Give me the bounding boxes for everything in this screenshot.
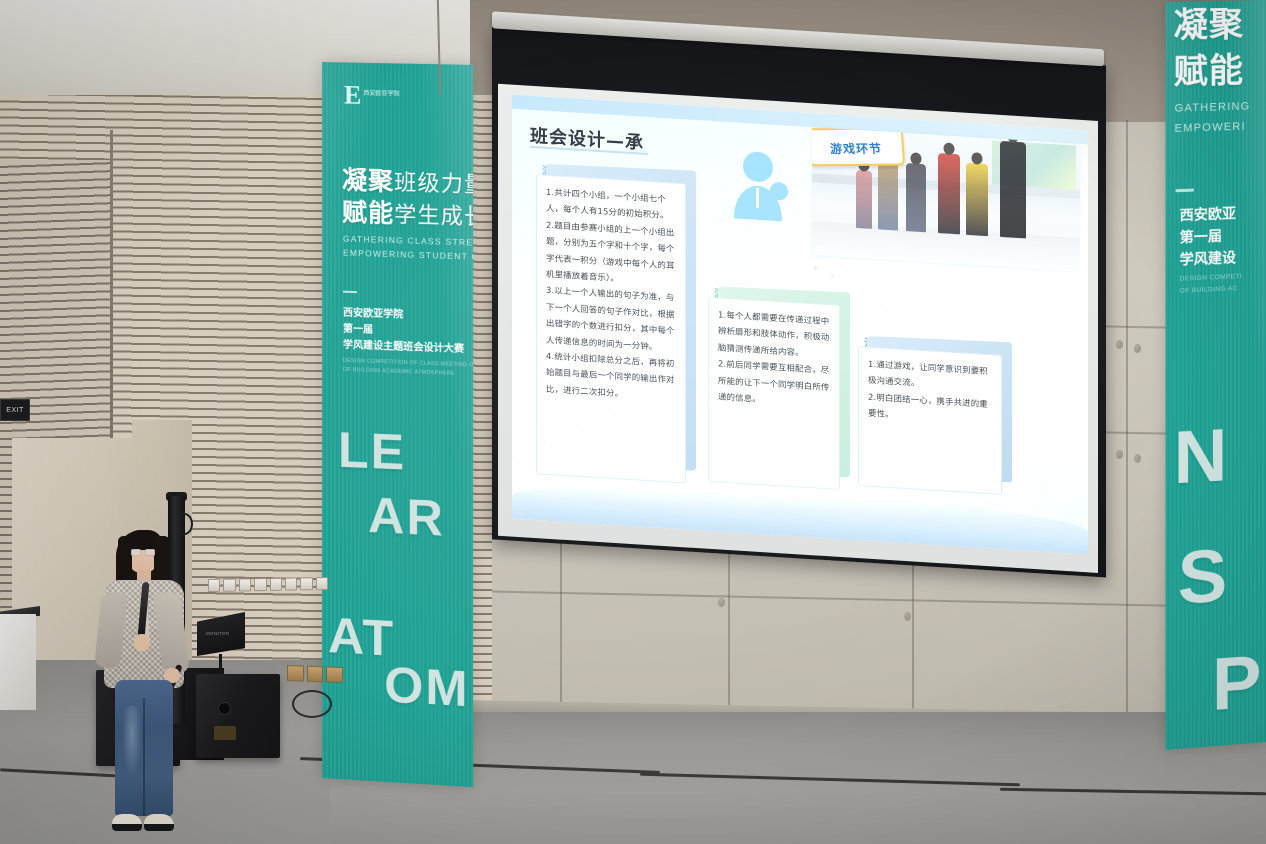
photo-badge: 游戏环节: [812, 127, 904, 175]
card-game-points: 1.每个人都需要在传递过程中辨析唇形和肢体动作，积极动脑猜测传递所给内容。 2.…: [708, 297, 840, 490]
banner-big-letter: AR: [368, 486, 445, 548]
banner-right-sub-2: 第一届: [1180, 226, 1222, 251]
banner-divider-dash: [343, 291, 357, 293]
card-text-item: 1.每个人都需要在传递过程中辨析唇形和肢体动作，积极动脑猜测传递所给内容。: [718, 306, 830, 362]
wall-socket-strip: [208, 577, 328, 592]
banner-right-english-2: EMPOWERI: [1175, 117, 1246, 140]
lectern: [0, 614, 36, 710]
card-body: 1.共计四个小组，一个小组七个人，每个人有15分的初始积分。 2.题目由参赛小组…: [536, 174, 686, 483]
card-game-rules: 1.共计四个小组，一个小组七个人，每个人有15分的初始积分。 2.题目由参赛小组…: [536, 174, 686, 483]
wall-socket-strip-lower: [287, 665, 343, 683]
presenter-glasses: [131, 549, 155, 556]
banner-right: 凝聚 赋能 GATHERING EMPOWERI 西安欧亚 第一届 学风建设 D…: [1165, 0, 1266, 750]
banner-headline-2: 赋能学生成长: [342, 193, 473, 233]
speaker-logo: [214, 726, 236, 740]
banner-right-headline-2: 赋能: [1174, 43, 1244, 94]
banner-right-headline-1: 凝聚: [1174, 0, 1244, 47]
slide-photo: 游戏环节: [812, 127, 1080, 272]
photo-badge-text: 游戏环节: [829, 139, 882, 156]
banner-right-divider-dash: [1176, 189, 1194, 193]
card-text-item: 3.以上一个人输出的句子为准，与下一个人回答的句子作对比，根据出错字的个数进行扣…: [546, 282, 676, 356]
banner-right-big-letter: P: [1212, 638, 1263, 727]
banner-logo: E 西安欧亚学院: [344, 84, 400, 107]
banner-right-sub-1: 西安欧亚: [1180, 203, 1236, 228]
sparkle-icon: ✦: [812, 263, 820, 274]
banner-left: E 西安欧亚学院 凝聚班级力量 赋能学生成长 GATHERING CLASS S…: [322, 62, 473, 787]
banner-english-2: EMPOWERING STUDENT GROWTH: [343, 245, 473, 267]
card-body: 1.每个人都需要在传递过程中辨析唇形和肢体动作，积极动脑猜测传递所给内容。 2.…: [708, 297, 840, 490]
main-speaker: [196, 674, 280, 758]
banner-big-letter: OM: [384, 655, 469, 718]
presenter-hand-left: [134, 634, 150, 651]
user-avatar-icon: [730, 148, 792, 224]
banner-right-big-letter: N: [1174, 412, 1230, 501]
presentation-slide: 班会设计—承: [512, 95, 1088, 555]
banner-logo-letter: E: [344, 84, 359, 106]
photo-student: [966, 163, 988, 236]
card-text-item: 2.题目由参赛小组的上一个小组出题，分别为五个字和十个字，每个字代表一积分（游戏…: [546, 216, 676, 290]
presenter-shoe-right: [144, 814, 174, 831]
banner-right-sub-3: 学风建设: [1180, 247, 1236, 273]
presenter: [96, 528, 192, 840]
card-activity-goals: 1.通过游戏，让同学意识到要积极沟通交流。 2.明白团结一心，携手共进的重要性。: [858, 346, 1002, 495]
photo-student: [1000, 141, 1026, 239]
presenter-shoe-left: [112, 814, 142, 831]
banner-big-letter: LE: [338, 421, 406, 482]
card-body: 1.通过游戏，让同学意识到要积极沟通交流。 2.明白团结一心，携手共进的重要性。: [858, 346, 1002, 495]
speaker-port: [218, 702, 231, 715]
card-text-item: 2.明白团结一心，携手共进的重要性。: [868, 388, 992, 428]
card-text-item: 2.前后同学需要互相配合，尽所能的让下一个同学明白所传递的信息。: [718, 356, 830, 412]
presentation-hall-scene: EXIT E 西安欧亚学院 凝聚班级力量 赋能学生成长 GATHERING CL…: [0, 0, 1266, 844]
photo-student: [938, 153, 960, 234]
presenter-jeans-highlight: [122, 706, 142, 778]
projector-screen: 班会设计—承: [470, 0, 1106, 591]
banner-sub-3: 学风建设主题班会设计大赛: [343, 338, 464, 359]
stage-monitor-label: MONITOR: [206, 631, 229, 636]
photo-student: [856, 170, 872, 229]
sparkle-icon: ✦: [830, 272, 835, 279]
speaker-cable-loop: [292, 690, 332, 718]
banner-logo-text: 西安欧亚学院: [363, 85, 399, 100]
card-text-item: 4.统计小组扣除总分之后，再将初始题目与最后一个同学的输出作对比，进行二次扣分。: [546, 348, 676, 405]
banner-right-sub-en-2: OF BUILDING AC: [1180, 283, 1238, 298]
banner-sub-2: 第一届: [343, 322, 373, 340]
photo-student: [906, 163, 926, 232]
exit-sign: EXIT: [0, 399, 30, 421]
banner-right-big-letter: S: [1178, 532, 1230, 621]
